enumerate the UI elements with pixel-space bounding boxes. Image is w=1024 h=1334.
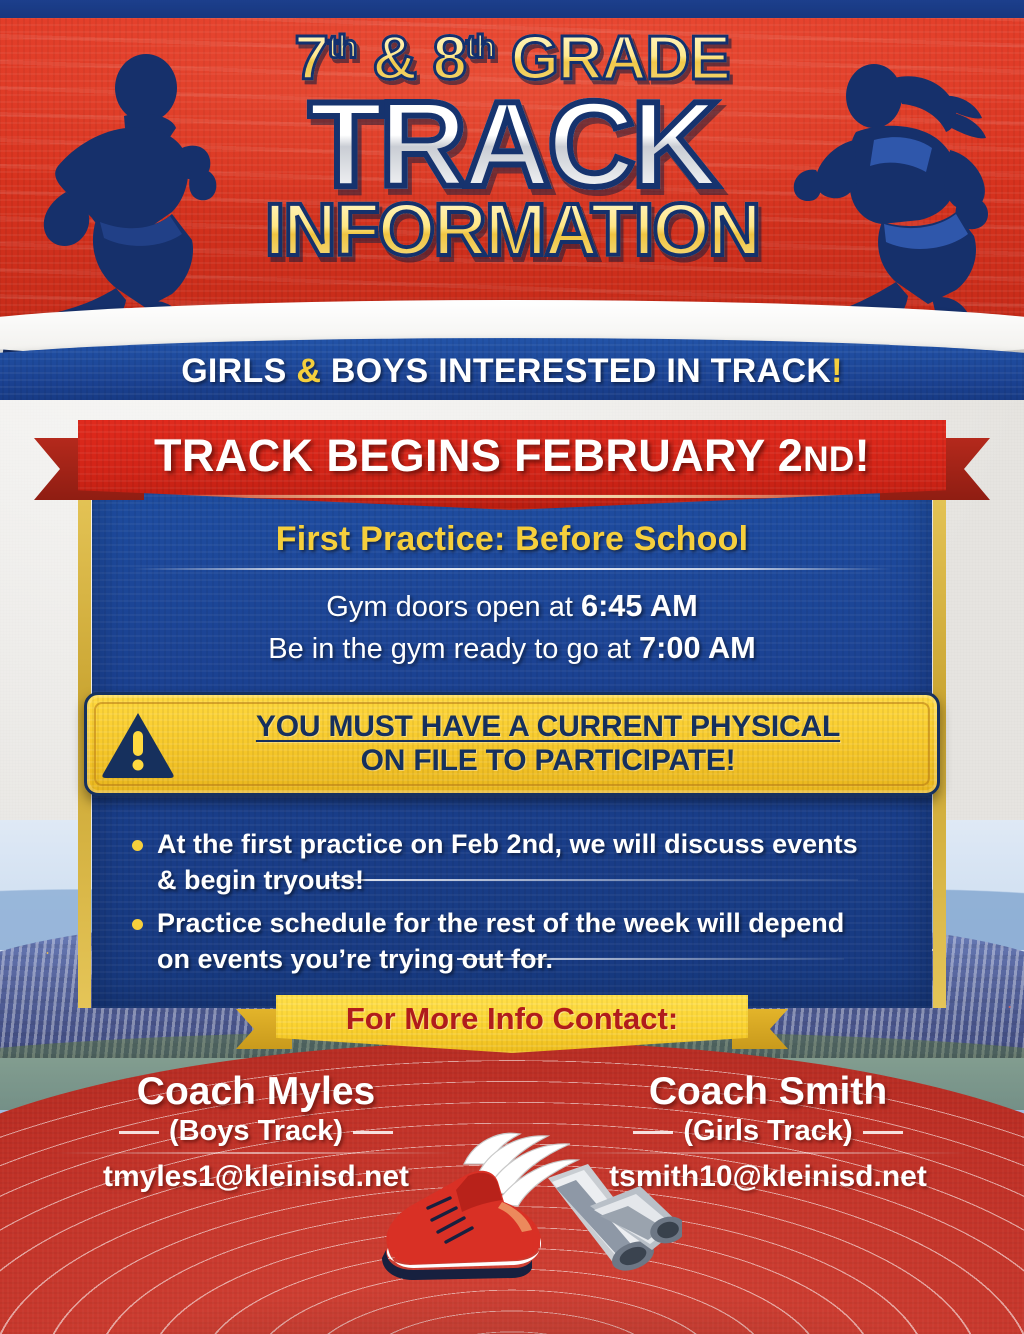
bullet-dot-icon <box>132 840 143 851</box>
ribbon-text: For More Info Contact: <box>346 1001 678 1037</box>
audience-subtitle: GIRLS & BOYS INTERESTED IN TRACK! <box>0 352 1024 391</box>
ribbon-body: For More Info Contact: <box>276 995 748 1053</box>
contact-ribbon: For More Info Contact: <box>248 995 776 1057</box>
ready-to-go-label: Be in the gym ready to go at <box>268 633 639 665</box>
warning-text: YOU MUST HAVE A CURRENT PHYSICAL ON FILE… <box>175 710 921 777</box>
banner-text-main: TRACK BEGINS FEBRUARY 2 <box>154 430 803 481</box>
rule-right <box>863 1131 903 1134</box>
banner-text: TRACK BEGINS FEBRUARY 2ND! <box>154 430 870 482</box>
subtitle-boys: BOYS INTERESTED IN TRACK <box>321 352 831 390</box>
coach-role: (Boys Track) <box>169 1115 343 1147</box>
ready-to-go-line: Be in the gym ready to go at 7:00 AM <box>126 630 898 666</box>
header: 7th & 8th GRADE TRACK INFORMATION GIRLS … <box>0 0 1024 400</box>
track-information-flyer: 7th & 8th GRADE TRACK INFORMATION GIRLS … <box>0 0 1024 1334</box>
subtitle-ampersand: & <box>296 352 321 390</box>
first-practice-heading: First Practice: Before School <box>126 520 898 559</box>
bullet-dot-icon <box>132 919 143 930</box>
grade-8-suffix: th <box>466 28 494 64</box>
gym-doors-time: 6:45 AM <box>581 588 698 623</box>
bullet-list: At the first practice on Feb 2nd, we wil… <box>132 826 892 960</box>
bullet-1-line-1: At the first practice on Feb 2nd, we wil… <box>157 826 858 862</box>
bullet-text: Practice schedule for the rest of the we… <box>157 905 844 960</box>
warning-line-1: YOU MUST HAVE A CURRENT PHYSICAL <box>175 710 921 744</box>
sub-title: INFORMATION <box>0 193 1024 267</box>
main-title: TRACK <box>0 86 1024 203</box>
list-item: At the first practice on Feb 2nd, we wil… <box>132 826 892 881</box>
gym-doors-line: Gym doors open at 6:45 AM <box>126 588 898 624</box>
relay-baton-icon <box>548 1164 682 1276</box>
subtitle-exclamation: ! <box>831 352 843 390</box>
banner-text-end: ! <box>855 430 870 481</box>
warning-triangle-icon <box>101 710 175 778</box>
gym-doors-label: Gym doors open at <box>326 591 581 623</box>
title-block: 7th & 8th GRADE TRACK INFORMATION <box>0 28 1024 267</box>
bullet-text: At the first practice on Feb 2nd, we wil… <box>157 826 858 881</box>
panel-content: First Practice: Before School Gym doors … <box>92 468 932 1008</box>
banner-text-ordinal: ND <box>803 440 854 479</box>
warning-line-2: ON FILE TO PARTICIPATE! <box>175 744 921 778</box>
banner-body: TRACK BEGINS FEBRUARY 2ND! <box>78 420 946 510</box>
gear-graphic <box>352 1098 682 1298</box>
list-item: Practice schedule for the rest of the we… <box>132 905 892 960</box>
grade-7-suffix: th <box>328 28 356 64</box>
physical-warning-box: YOU MUST HAVE A CURRENT PHYSICAL ON FILE… <box>84 692 940 796</box>
coach-role: (Girls Track) <box>683 1115 852 1147</box>
heading-divider <box>132 568 892 570</box>
bullet-1-underline <box>327 879 858 881</box>
ready-to-go-time: 7:00 AM <box>639 630 756 665</box>
subtitle-girls: GIRLS <box>181 352 296 390</box>
start-date-banner: TRACK BEGINS FEBRUARY 2ND! <box>34 420 990 516</box>
rule-left <box>119 1131 159 1134</box>
bullet-2-line-1: Practice schedule for the rest of the we… <box>157 905 844 941</box>
